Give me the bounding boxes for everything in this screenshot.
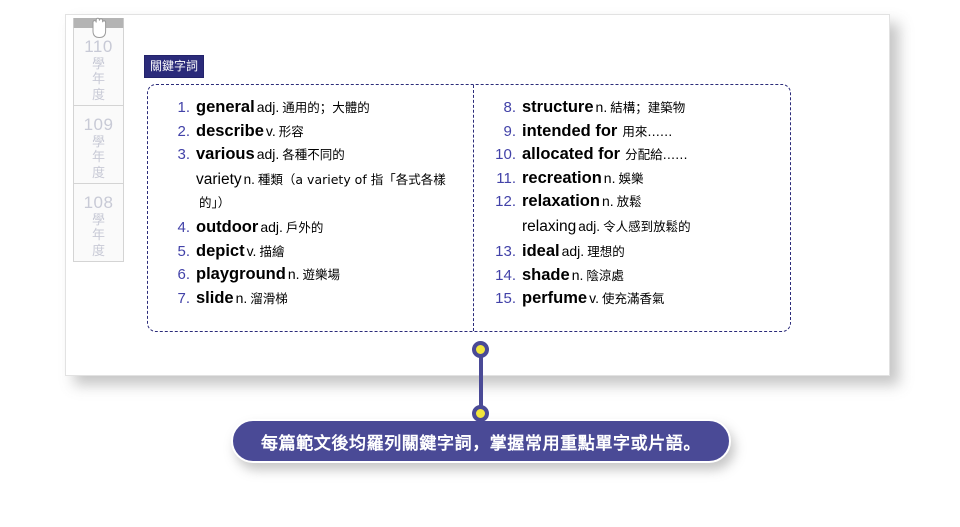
item-word: general (196, 98, 255, 116)
year-label: 學 年 度 (92, 135, 105, 181)
item-word: shade (522, 266, 570, 284)
item-number: 13. (490, 243, 516, 261)
year-label-char: 度 (92, 166, 105, 181)
item-definition: 戶外的 (286, 220, 324, 235)
list-item-sub: varietyn.種類（a variety of 指「各式各樣 的」） (164, 168, 473, 215)
year-label-char: 年 (92, 150, 105, 165)
item-number: 10. (490, 146, 516, 164)
item-body: variousadj.各種不同的 (196, 144, 473, 165)
item-number: 14. (490, 267, 516, 285)
item-word: relaxation (522, 192, 600, 210)
item-word: playground (196, 265, 286, 283)
item-body: perfumev.使充滿香氣 (522, 288, 790, 309)
list-item: 1. generaladj.通用的；大體的 (164, 97, 473, 118)
item-pos: adj. (562, 243, 585, 259)
item-word: ideal (522, 242, 560, 260)
sidebar-item-year-108[interactable]: 108 學 年 度 (73, 184, 124, 262)
item-definition: 陰涼處 (586, 268, 624, 283)
list-item: 13. idealadj.理想的 (490, 241, 790, 262)
scroll-handle-icon[interactable] (73, 18, 124, 28)
item-body: recreationn.娛樂 (522, 168, 790, 189)
item-pos: n. (236, 290, 248, 306)
item-definition: 分配給…… (625, 147, 688, 162)
year-label: 學 年 度 (92, 213, 105, 259)
item-word: relaxing (522, 218, 576, 235)
vocabulary-list-box: 1. generaladj.通用的；大體的 2. describev.形容 3.… (147, 84, 791, 332)
item-definition: 放鬆 (617, 194, 642, 209)
list-item: 5. depictv.描繪 (164, 241, 473, 262)
item-word: allocated for (522, 145, 620, 163)
year-label-char: 度 (92, 244, 105, 259)
item-pos: n. (602, 193, 614, 209)
item-body: intended for用來…… (522, 121, 790, 142)
connector-knob-icon-top (472, 341, 489, 358)
item-number: 9. (490, 123, 516, 141)
vocabulary-column-right: 8. structuren.結構；建築物 9. intended for用來……… (474, 85, 790, 331)
item-number: 4. (164, 219, 190, 237)
item-number: 2. (164, 123, 190, 141)
item-number: 12. (490, 193, 516, 211)
item-number: 3. (164, 146, 190, 164)
sidebar-item-year-109[interactable]: 109 學 年 度 (73, 106, 124, 184)
section-badge: 關鍵字詞 (144, 55, 204, 78)
item-pos: n. (572, 267, 584, 283)
item-definition: 娛樂 (618, 171, 643, 186)
year-label-char: 年 (92, 228, 105, 243)
item-body: relaxationn.放鬆 (522, 191, 790, 212)
year-label-char: 學 (92, 135, 105, 150)
vocabulary-column-left: 1. generaladj.通用的；大體的 2. describev.形容 3.… (148, 85, 474, 331)
item-pos: adj. (260, 219, 283, 235)
item-word: slide (196, 289, 234, 307)
item-definition: 形容 (279, 124, 304, 139)
year-number: 109 (84, 116, 114, 134)
item-body: sliden.溜滑梯 (196, 288, 473, 309)
list-item: 15. perfumev.使充滿香氣 (490, 288, 790, 309)
list-item: 3. variousadj.各種不同的 (164, 144, 473, 165)
item-word: perfume (522, 289, 587, 307)
sidebar-item-year-110[interactable]: 110 學 年 度 (73, 28, 124, 106)
list-item: 8. structuren.結構；建築物 (490, 97, 790, 118)
item-pos: v. (589, 290, 599, 306)
item-pos: n. (288, 266, 300, 282)
item-number: 1. (164, 99, 190, 117)
item-body: idealadj.理想的 (522, 241, 790, 262)
list-item: 6. playgroundn.遊樂場 (164, 264, 473, 285)
item-body: allocated for分配給…… (522, 144, 790, 165)
item-pos: adj. (578, 219, 600, 234)
year-label: 學 年 度 (92, 57, 105, 103)
item-body: generaladj.通用的；大體的 (196, 97, 473, 118)
item-number: 5. (164, 243, 190, 261)
item-pos: v. (266, 123, 276, 139)
item-definition: 種類（a variety of 指「各式各樣 (258, 172, 446, 187)
item-pos: v. (247, 243, 257, 259)
item-definition: 令人感到放鬆的 (603, 219, 691, 234)
item-word: intended for (522, 122, 617, 140)
list-item: 11. recreationn.娛樂 (490, 168, 790, 189)
item-body: describev.形容 (196, 121, 473, 142)
list-item-sub: relaxingadj.令人感到放鬆的 (490, 215, 790, 238)
list-item: 14. shaden.陰涼處 (490, 265, 790, 286)
item-definition-line2: 的」） (199, 195, 230, 210)
list-item: 10. allocated for分配給…… (490, 144, 790, 165)
item-pos: adj. (257, 146, 280, 162)
callout-text: 每篇範文後均羅列關鍵字詞，掌握常用重點單字或片語。 (261, 429, 701, 454)
item-pos: n. (596, 99, 608, 115)
item-word: describe (196, 122, 264, 140)
item-word: various (196, 145, 255, 163)
year-label-char: 學 (92, 213, 105, 228)
item-pos: n. (604, 170, 616, 186)
list-item: 2. describev.形容 (164, 121, 473, 142)
item-word: outdoor (196, 218, 258, 236)
item-body: relaxingadj.令人感到放鬆的 (522, 215, 790, 238)
item-definition: 使充滿香氣 (602, 291, 665, 306)
connector-knob-icon-bottom (472, 405, 489, 422)
year-label-char: 年 (92, 72, 105, 87)
item-definition: 描繪 (259, 244, 284, 259)
item-word: recreation (522, 169, 602, 187)
item-number: 15. (490, 290, 516, 308)
item-definition: 通用的；大體的 (282, 100, 370, 115)
list-item: 4. outdooradj.戶外的 (164, 217, 473, 238)
year-label-char: 學 (92, 57, 105, 72)
list-item: 9. intended for用來…… (490, 121, 790, 142)
year-tab-rail: 110 學 年 度 109 學 年 度 108 學 年 度 (73, 18, 124, 262)
item-word: depict (196, 242, 245, 260)
item-number: 7. (164, 290, 190, 308)
item-definition: 結構；建築物 (610, 100, 685, 115)
item-pos: adj. (257, 99, 280, 115)
item-definition: 溜滑梯 (250, 291, 288, 306)
item-definition: 用來…… (622, 124, 672, 139)
item-body: structuren.結構；建築物 (522, 97, 790, 118)
callout-bubble: 每篇範文後均羅列關鍵字詞，掌握常用重點單字或片語。 (231, 419, 731, 463)
year-label-char: 度 (92, 88, 105, 103)
item-body: depictv.描繪 (196, 241, 473, 262)
item-definition: 遊樂場 (303, 267, 341, 282)
item-body: shaden.陰涼處 (522, 265, 790, 286)
item-body: varietyn.種類（a variety of 指「各式各樣 的」） (196, 168, 473, 215)
item-number: 6. (164, 266, 190, 284)
item-word: variety (196, 171, 242, 188)
item-definition: 各種不同的 (282, 147, 345, 162)
list-item: 12. relaxationn.放鬆 (490, 191, 790, 212)
item-definition: 理想的 (587, 244, 625, 259)
item-number: 8. (490, 99, 516, 117)
item-pos: n. (244, 172, 255, 187)
item-body: outdooradj.戶外的 (196, 217, 473, 238)
item-word: structure (522, 98, 594, 116)
item-number: 11. (490, 170, 516, 188)
year-number: 108 (84, 194, 114, 212)
year-number: 110 (84, 38, 113, 56)
item-body: playgroundn.遊樂場 (196, 264, 473, 285)
list-item: 7. sliden.溜滑梯 (164, 288, 473, 309)
